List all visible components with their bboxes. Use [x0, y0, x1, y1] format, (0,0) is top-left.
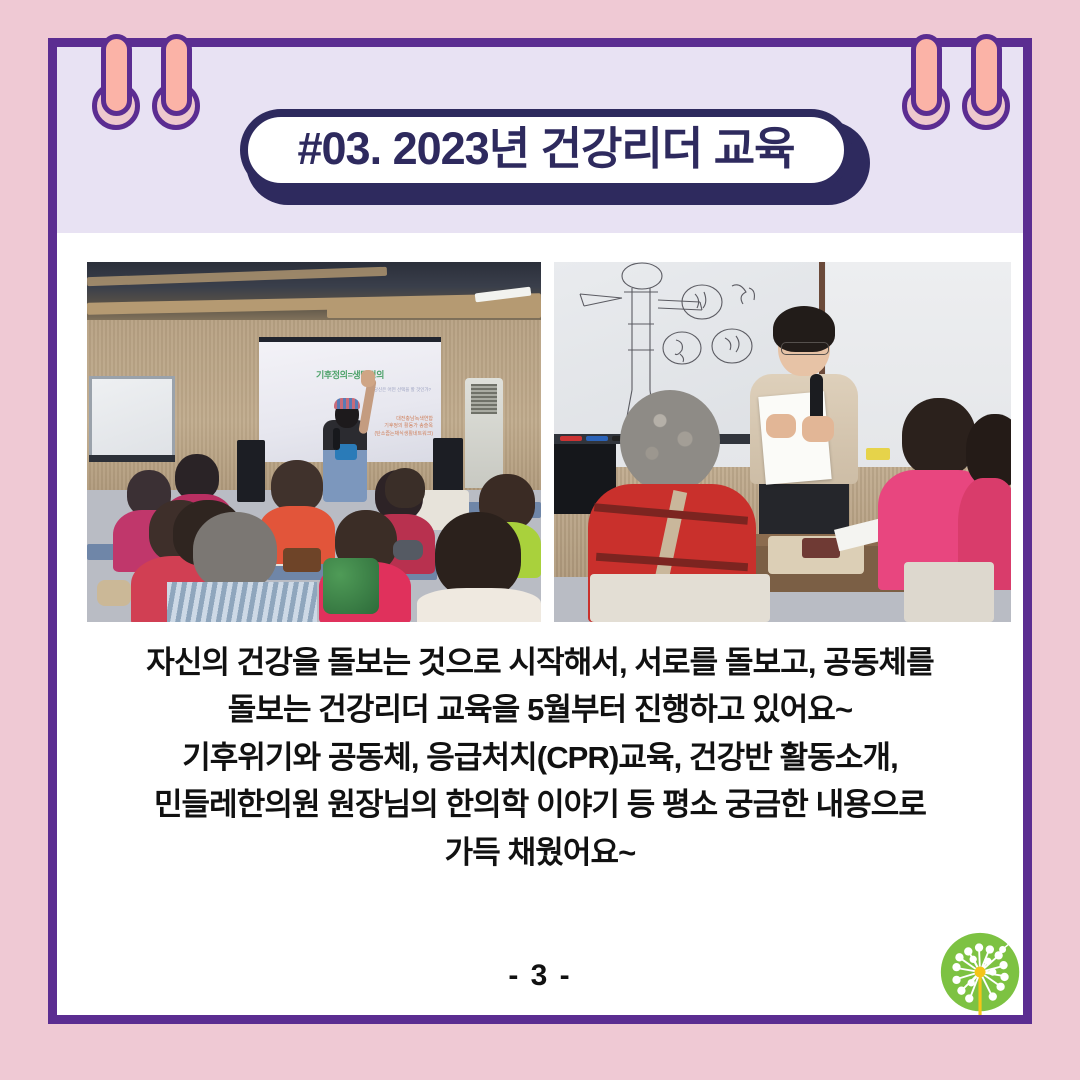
title-pill: #03. 2023년 건강리더 교육 [240, 109, 852, 191]
binder-clip-left-1 [88, 34, 146, 138]
audience-body [417, 588, 541, 622]
sandal [283, 548, 321, 572]
presenter-microphone [333, 428, 340, 450]
presenter-beanie [334, 398, 360, 409]
body-line: 가득 채웠어요~ [79, 829, 1001, 876]
binder-clip-right-2 [958, 34, 1016, 138]
dandelion-logo [933, 925, 1031, 1023]
audience-head [385, 468, 425, 508]
dark-bag [393, 540, 423, 560]
marker-red [560, 436, 582, 441]
chair [904, 562, 994, 622]
body-line: 자신의 건강을 돌보는 것으로 시작해서, 서로를 돌보고, 공동체를 [79, 639, 1001, 686]
binder-clip-left-2 [148, 34, 206, 138]
page-number: - 3 - [57, 959, 1023, 993]
clip-pill [911, 34, 942, 116]
instructor-glasses [781, 342, 829, 355]
bag-on-desk [97, 580, 131, 606]
body-text: 자신의 건강을 돌보는 것으로 시작해서, 서로를 돌보고, 공동체를 돌보는 … [57, 639, 1023, 876]
body-line: 돌보는 건강리더 교육을 5월부터 진행하고 있어요~ [79, 686, 1001, 733]
audience-head [271, 460, 323, 512]
binder-clip-right-1 [898, 34, 956, 138]
clip-pill [971, 34, 1002, 116]
air-conditioner-grill [471, 384, 497, 414]
clip-pill [101, 34, 132, 116]
page-title: #03. 2023년 건강리더 교육 [298, 126, 795, 174]
audience-head [193, 512, 277, 590]
slide-subtitle: 당신은 어떤 선택을 할 것인가? [374, 387, 431, 393]
infographic-card: #03. 2023년 건강리더 교육 기후정의=생명정의 당신은 어떤 선택을 … [0, 0, 1080, 1080]
slide-credit: 대전충남녹색연합기후정의 활동가 송슬옥(탄소줍는채식생활네트워크) [374, 416, 433, 438]
audience-hair-texture [620, 390, 720, 492]
audience-head [966, 414, 1011, 488]
whiteboard [89, 376, 175, 459]
whiteboard-tray [89, 455, 175, 462]
instructor-hand [802, 416, 834, 442]
ceiling-beam [327, 302, 541, 318]
photo-instructor [554, 262, 1011, 622]
slide-title: 기후정의=생명정의 [259, 368, 441, 381]
photo-lecture-hall: 기후정의=생명정의 당신은 어떤 선택을 할 것인가? 대전충남녹색연합기후정의… [87, 262, 541, 622]
audience-head [902, 398, 976, 476]
audience-striped-shirt [167, 582, 317, 622]
body-line: 민들레한의원 원장님의 한의학 이야기 등 평소 궁금한 내용으로 [79, 781, 1001, 828]
speaker [237, 440, 265, 502]
card-frame: #03. 2023년 건강리더 교육 기후정의=생명정의 당신은 어떤 선택을 … [48, 38, 1032, 1024]
body-line: 기후위기와 공동체, 응급처치(CPR)교육, 건강반 활동소개, [79, 734, 1001, 781]
clip-pill [161, 34, 192, 116]
instructor-hand [766, 414, 796, 438]
photo-row: 기후정의=생명정의 당신은 어떤 선택을 할 것인가? 대전충남녹색연합기후정의… [87, 262, 1011, 622]
presenter-hand [361, 370, 375, 387]
audience-patterned-vest [323, 558, 379, 614]
chair [590, 574, 770, 622]
marker-blue [586, 436, 608, 441]
wallet [802, 538, 840, 558]
audience-head [435, 512, 521, 598]
sticky-note [866, 448, 890, 460]
